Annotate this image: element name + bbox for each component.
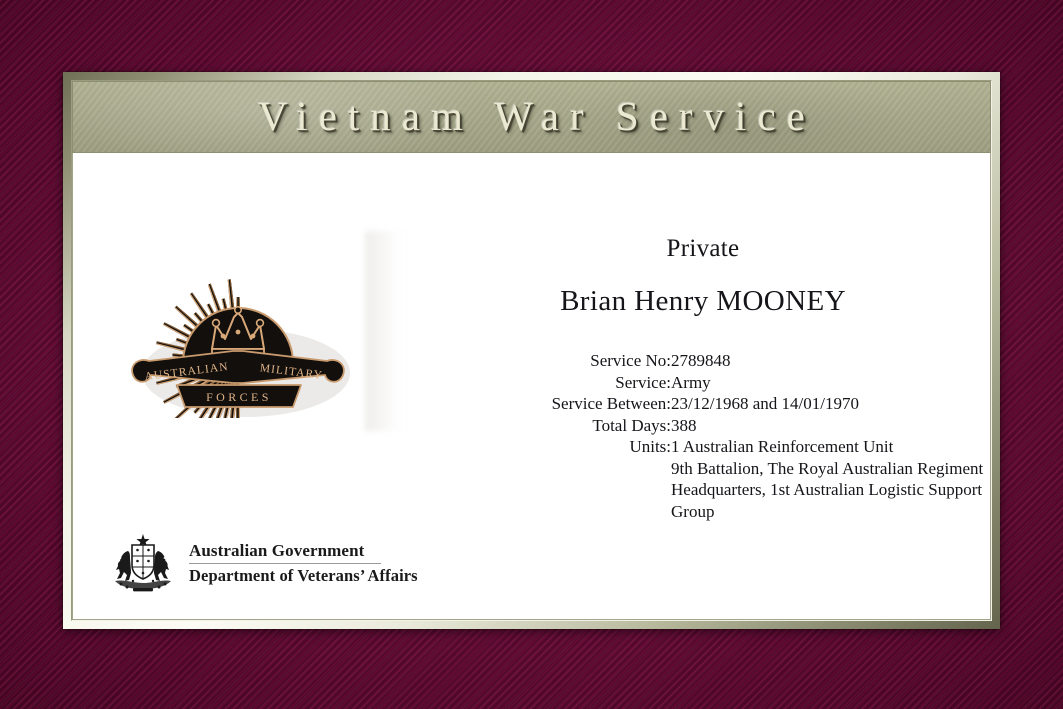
table-row: Service No: 2789848 (403, 350, 1003, 372)
units-label: Units: (403, 436, 671, 522)
list-item: 9th Battalion, The Royal Australian Regi… (671, 458, 1003, 480)
badge-scroll-bottom-text: FORCES (206, 390, 272, 404)
person-name: Brian Henry MOONEY (403, 285, 1003, 318)
list-item: 1 Australian Reinforcement Unit (671, 436, 1003, 458)
service-fields-table: Service No: 2789848 Service: Army Servic… (403, 350, 1003, 522)
field-value: 23/12/1968 and 14/01/1970 (671, 393, 1003, 415)
service-details: Private Brian Henry MOONEY Service No: 2… (403, 153, 1003, 522)
table-row: Total Days: 388 (403, 415, 1003, 437)
commonwealth-coat-of-arms-icon (107, 531, 179, 597)
field-label: Service Between: (403, 393, 671, 415)
government-label: Australian Government (189, 541, 418, 561)
certificate-frame: Vietnam War Service (63, 72, 1000, 629)
certificate-body: AUSTRALIAN MILITARY FORCES Private Brian… (72, 153, 991, 620)
table-row: Service: Army (403, 372, 1003, 394)
rising-sun-badge: AUSTRALIAN MILITARY FORCES (115, 223, 365, 418)
department-label: Department of Veterans’ Affairs (189, 566, 418, 586)
certificate-title: Vietnam War Service (73, 92, 990, 140)
table-row: Service Between: 23/12/1968 and 14/01/19… (403, 393, 1003, 415)
table-row-units: Units: 1 Australian Reinforcement Unit 9… (403, 436, 1003, 522)
wordmark-divider (189, 563, 381, 564)
certificate-header-band: Vietnam War Service (72, 81, 991, 153)
units-list: 1 Australian Reinforcement Unit 9th Batt… (671, 436, 1003, 522)
government-wordmark: Australian Government Department of Vete… (189, 541, 418, 588)
certificate-frame-inner: Vietnam War Service (71, 80, 992, 621)
field-label: Total Days: (403, 415, 671, 437)
rank-text: Private (403, 235, 1003, 263)
field-label: Service: (403, 372, 671, 394)
field-label: Service No: (403, 350, 671, 372)
field-value: Army (671, 372, 1003, 394)
list-item: Headquarters, 1st Australian Logistic Su… (671, 479, 1003, 522)
field-value: 388 (671, 415, 1003, 437)
field-value: 2789848 (671, 350, 1003, 372)
government-footer: Australian Government Department of Vete… (107, 531, 418, 597)
